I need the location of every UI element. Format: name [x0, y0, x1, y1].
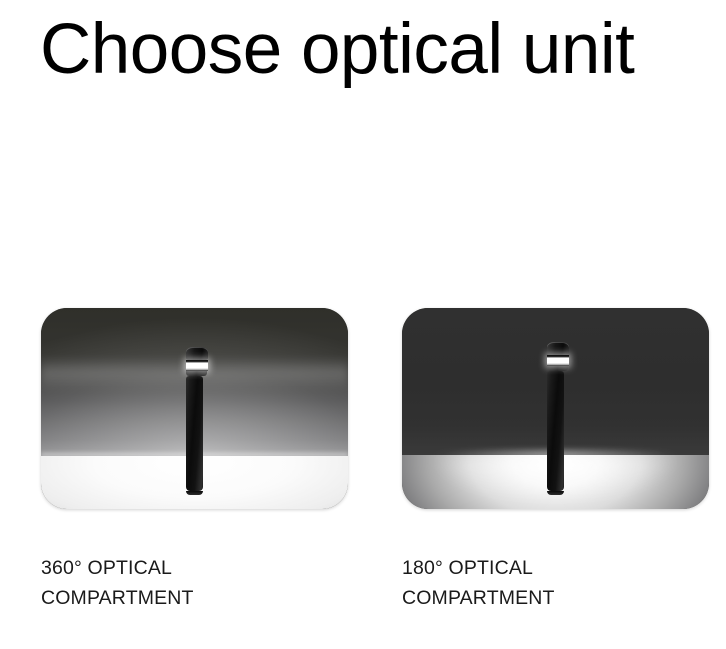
option-180-image-card[interactable] [402, 308, 709, 509]
bollard-light-band-360 [186, 360, 208, 371]
page-title: Choose optical unit [40, 10, 660, 90]
bollard-cap-icon [186, 347, 208, 360]
bollard-base [547, 491, 564, 495]
option-180-optical-compartment[interactable]: 180° OPTICAL COMPARTMENT [402, 308, 709, 613]
option-360-label: 360° OPTICAL COMPARTMENT [41, 553, 271, 613]
bollard-base [186, 491, 203, 495]
optical-unit-options: 360° OPTICAL COMPARTMENT 180° OPTICAL CO… [41, 308, 709, 613]
bollard-light-band-180 [547, 355, 569, 366]
option-180-label: 180° OPTICAL COMPARTMENT [402, 553, 632, 613]
optical-unit-chooser-page: Choose optical unit 360° OPTICAL COMPART… [0, 0, 726, 649]
bollard-body [186, 376, 203, 491]
option-360-image-card[interactable] [41, 308, 348, 509]
bollard-luminaire-360 [186, 347, 204, 495]
bollard-cap-icon [547, 342, 569, 355]
bollard-luminaire-180 [547, 342, 565, 495]
bollard-body [547, 371, 564, 491]
option-360-optical-compartment[interactable]: 360° OPTICAL COMPARTMENT [41, 308, 348, 613]
